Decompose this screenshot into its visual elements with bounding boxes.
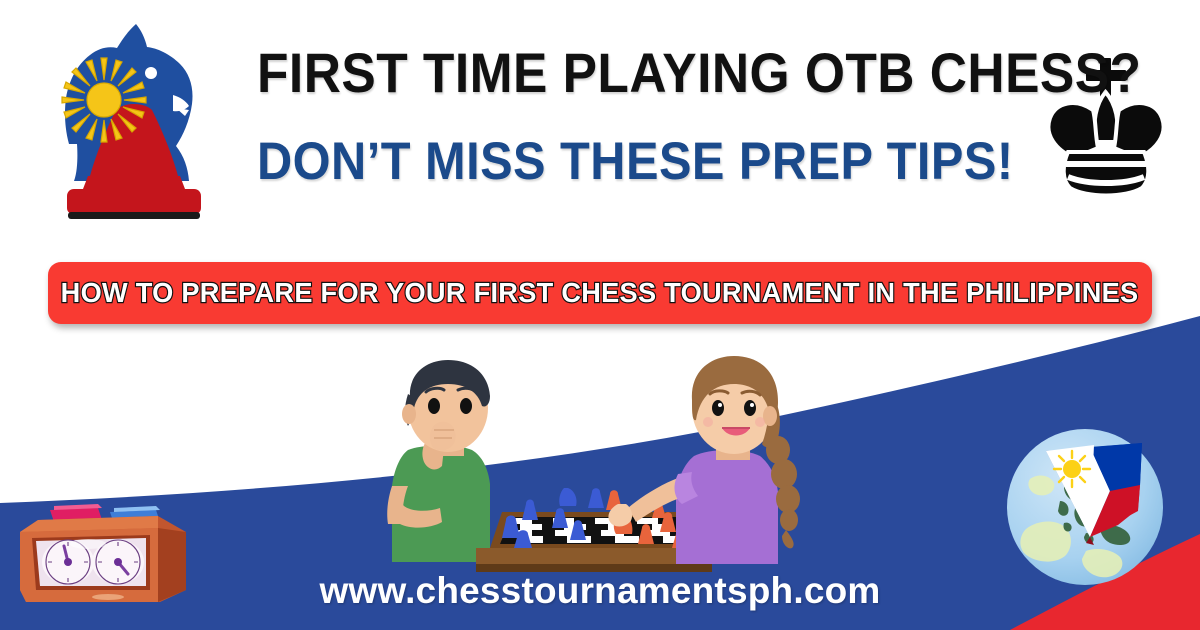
headline-line-2: DON’T MISS THESE PREP TIPS! (257, 135, 993, 189)
poster-canvas: FIRST TIME PLAYING OTB CHESS? DON’T MISS… (0, 0, 1200, 630)
website-url[interactable]: www.chesstournamentsph.com (0, 570, 1200, 612)
subtitle-banner: HOW TO PREPARE FOR YOUR FIRST CHESS TOUR… (48, 262, 1152, 324)
headline-block: FIRST TIME PLAYING OTB CHESS? DON’T MISS… (225, 44, 1025, 189)
globe-philippines-flag-pin-icon (990, 405, 1180, 595)
headline-line-1: FIRST TIME PLAYING OTB CHESS? (257, 44, 993, 101)
boy-figure (387, 360, 490, 562)
subtitle-banner-text: HOW TO PREPARE FOR YOUR FIRST CHESS TOUR… (61, 277, 1139, 309)
philippine-knight-logo-icon (44, 18, 224, 223)
two-kids-playing-chess-illustration (378, 352, 808, 574)
